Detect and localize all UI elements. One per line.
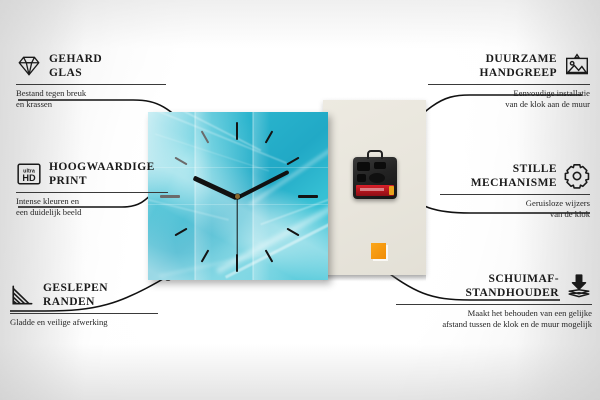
clock-center-hub: [235, 194, 240, 199]
feature-description: Gladde en veilige afwerking: [10, 317, 158, 328]
foam-spacer: [371, 243, 386, 259]
product-image: [148, 100, 426, 280]
feature-title: STILLE MECHANISME: [471, 162, 557, 191]
svg-text:HD: HD: [22, 173, 36, 183]
feature-gehard-glas: GEHARD GLAS Bestand tegen breuk en krass…: [16, 52, 166, 110]
feature-geslepen-randen: GESLEPEN RANDEN Gladde en veilige afwerk…: [10, 281, 158, 328]
diamond-icon: [16, 53, 42, 79]
feature-title: GESLEPEN RANDEN: [43, 281, 108, 310]
feature-divider: [440, 194, 590, 195]
gear-icon: [564, 163, 590, 189]
feature-title: GEHARD GLAS: [49, 52, 102, 81]
feature-description: Eenvoudige installatie van de klok aan d…: [428, 88, 590, 111]
feature-divider: [428, 84, 590, 85]
feature-description: Bestand tegen breuk en krassen: [16, 88, 166, 111]
polished-edge-icon: [10, 282, 36, 308]
feature-divider: [396, 304, 592, 305]
clock-mechanism: [353, 157, 397, 199]
feature-description: Intense kleuren en een duidelijk beeld: [16, 196, 168, 219]
clock-second-hand: [236, 198, 237, 256]
picture-frame-icon: [564, 53, 590, 79]
clock-face: [148, 112, 328, 280]
feature-schuimaf-standhouder: SCHUIMAF- STANDHOUDER Maakt het behouden…: [396, 272, 592, 330]
feature-description: Maakt het behouden van een gelijke afsta…: [396, 308, 592, 331]
feature-title: SCHUIMAF- STANDHOUDER: [465, 272, 559, 301]
feature-title: DUURZAME HANDGREEP: [479, 52, 557, 81]
feature-description: Geruisloze wijzers van de klok: [440, 198, 590, 221]
feature-stille-mechanisme: STILLE MECHANISME Geruisloze wijzers van…: [440, 162, 590, 220]
feature-duurzame-handgreep: DUURZAME HANDGREEP Eenvoudige installati…: [428, 52, 590, 110]
feature-divider: [16, 192, 168, 193]
feature-hoogwaardige-print: ultra HD HOOGWAARDIGE PRINT Intense kleu…: [16, 160, 168, 218]
feature-divider: [10, 313, 158, 314]
battery: [356, 185, 394, 196]
feature-divider: [16, 84, 166, 85]
feature-title: HOOGWAARDIGE PRINT: [49, 160, 155, 189]
spacer-stand-icon: [566, 273, 592, 299]
ultra-hd-icon: ultra HD: [16, 161, 42, 187]
hanger-icon: [367, 150, 383, 159]
